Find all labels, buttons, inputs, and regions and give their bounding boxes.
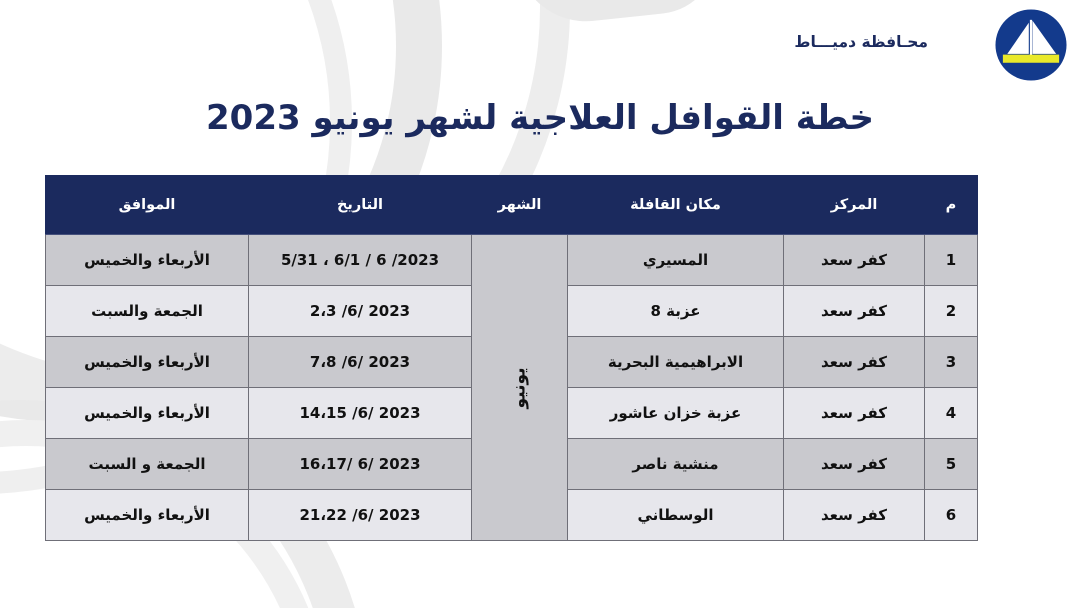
- slide-header: محـافظة دميـــاط: [0, 0, 1080, 96]
- column-header-day: الموافق: [46, 176, 249, 235]
- cell-date: 14،15 /6/ 2023: [249, 388, 472, 439]
- cell-day: الأربعاء والخميس: [46, 388, 249, 439]
- table-header-row: م المركز مكان القافلة الشهر التاريخ المو…: [46, 176, 978, 235]
- column-header-no: م: [925, 176, 978, 235]
- damietta-governorate-logo-icon: [994, 8, 1068, 82]
- cell-center: كفر سعد: [784, 439, 925, 490]
- medical-convoys-plan-table: م المركز مكان القافلة الشهر التاريخ المو…: [45, 175, 978, 541]
- column-header-place: مكان القافلة: [568, 176, 784, 235]
- column-header-center: المركز: [784, 176, 925, 235]
- cell-date: 21،22 /6/ 2023: [249, 490, 472, 541]
- column-header-month: الشهر: [472, 176, 568, 235]
- cell-month-merged: يونيو: [472, 235, 568, 541]
- organization-name: محـافظة دميـــاط: [794, 33, 928, 51]
- slide-canvas: محـافظة دميـــاط خطة القوافل العلاجية لش…: [0, 0, 1080, 608]
- cell-day: الأربعاء والخميس: [46, 337, 249, 388]
- table-row: 1 كفر سعد المسيري يونيو 5/31 ، 6/1 / 6 /…: [46, 235, 978, 286]
- cell-center: كفر سعد: [784, 490, 925, 541]
- cell-no: 2: [925, 286, 978, 337]
- cell-date: 16،17/ 6/ 2023: [249, 439, 472, 490]
- cell-day: الأربعاء والخميس: [46, 490, 249, 541]
- cell-no: 5: [925, 439, 978, 490]
- cell-day: الجمعة والسبت: [46, 286, 249, 337]
- cell-center: كفر سعد: [784, 286, 925, 337]
- table-header: م المركز مكان القافلة الشهر التاريخ المو…: [46, 176, 978, 235]
- cell-date: 7،8 /6/ 2023: [249, 337, 472, 388]
- cell-place: الوسطاني: [568, 490, 784, 541]
- cell-place: عزبة 8: [568, 286, 784, 337]
- cell-center: كفر سعد: [784, 388, 925, 439]
- cell-no: 3: [925, 337, 978, 388]
- cell-day: الجمعة و السبت: [46, 439, 249, 490]
- cell-place: الابراهيمية البحرية: [568, 337, 784, 388]
- cell-center: كفر سعد: [784, 235, 925, 286]
- cell-no: 4: [925, 388, 978, 439]
- cell-date: 2،3 /6/ 2023: [249, 286, 472, 337]
- cell-no: 6: [925, 490, 978, 541]
- cell-place: عزبة خزان عاشور: [568, 388, 784, 439]
- cell-place: منشية ناصر: [568, 439, 784, 490]
- page-title: خطة القوافل العلاجية لشهر يونيو 2023: [0, 98, 1080, 138]
- cell-no: 1: [925, 235, 978, 286]
- cell-center: كفر سعد: [784, 337, 925, 388]
- cell-place: المسيري: [568, 235, 784, 286]
- cell-date: 5/31 ، 6/1 / 6 /2023: [249, 235, 472, 286]
- plan-table-container: م المركز مكان القافلة الشهر التاريخ المو…: [52, 175, 978, 541]
- month-label-rotated: يونيو: [510, 367, 530, 408]
- column-header-date: التاريخ: [249, 176, 472, 235]
- cell-day: الأربعاء والخميس: [46, 235, 249, 286]
- table-body: 1 كفر سعد المسيري يونيو 5/31 ، 6/1 / 6 /…: [46, 235, 978, 541]
